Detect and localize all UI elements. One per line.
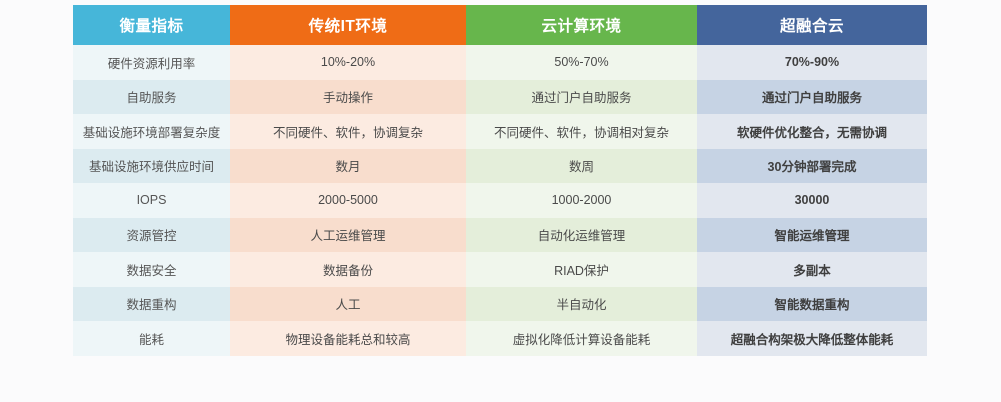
table-cell-metric: 硬件资源利用率 — [73, 45, 230, 80]
column-header-metric: 衡量指标 — [73, 5, 230, 45]
table-cell-metric: 基础设施环境部署复杂度 — [73, 114, 230, 149]
table-cell-cloud: RIAD保护 — [466, 252, 697, 287]
table-cell-cloud: 1000-2000 — [466, 183, 697, 218]
table-cell-legacy: 数据备份 — [230, 252, 466, 287]
header-row: 衡量指标 传统IT环境 云计算环境 超融合云 — [73, 5, 927, 45]
table-cell-cloud: 自动化运维管理 — [466, 218, 697, 253]
table-cell-cloud: 50%-70% — [466, 45, 697, 80]
table-cell-hci: 智能数据重构 — [697, 287, 927, 322]
table-cell-hci: 30分钟部署完成 — [697, 149, 927, 184]
table-cell-legacy: 10%-20% — [230, 45, 466, 80]
column-header-cloud: 云计算环境 — [466, 5, 697, 45]
table-cell-metric: 基础设施环境供应时间 — [73, 149, 230, 184]
table-row: 硬件资源利用率10%-20%50%-70%70%-90% — [73, 45, 927, 80]
table-cell-legacy: 不同硬件、软件，协调复杂 — [230, 114, 466, 149]
comparison-table: 衡量指标 传统IT环境 云计算环境 超融合云 硬件资源利用率10%-20%50%… — [73, 5, 927, 356]
table-cell-metric: 自助服务 — [73, 80, 230, 115]
column-header-legacy: 传统IT环境 — [230, 5, 466, 45]
table-cell-cloud: 半自动化 — [466, 287, 697, 322]
table-cell-metric: 数据重构 — [73, 287, 230, 322]
table-cell-metric: 数据安全 — [73, 252, 230, 287]
table-row: 数据重构人工半自动化智能数据重构 — [73, 287, 927, 322]
table-header: 衡量指标 传统IT环境 云计算环境 超融合云 — [73, 5, 927, 45]
table-row: 自助服务手动操作通过门户自助服务通过门户自助服务 — [73, 80, 927, 115]
table-cell-cloud: 数周 — [466, 149, 697, 184]
table-cell-legacy: 2000-5000 — [230, 183, 466, 218]
table-row: 能耗物理设备能耗总和较高虚拟化降低计算设备能耗超融合构架极大降低整体能耗 — [73, 321, 927, 356]
table-cell-legacy: 物理设备能耗总和较高 — [230, 321, 466, 356]
table-row: 基础设施环境部署复杂度不同硬件、软件，协调复杂不同硬件、软件，协调相对复杂软硬件… — [73, 114, 927, 149]
table-cell-metric: IOPS — [73, 183, 230, 218]
table-cell-hci: 智能运维管理 — [697, 218, 927, 253]
table-cell-metric: 能耗 — [73, 321, 230, 356]
table-cell-legacy: 人工 — [230, 287, 466, 322]
column-header-hci: 超融合云 — [697, 5, 927, 45]
table-cell-metric: 资源管控 — [73, 218, 230, 253]
table-cell-hci: 超融合构架极大降低整体能耗 — [697, 321, 927, 356]
table-row: 资源管控人工运维管理自动化运维管理智能运维管理 — [73, 218, 927, 253]
table-cell-hci: 70%-90% — [697, 45, 927, 80]
table-cell-hci: 通过门户自助服务 — [697, 80, 927, 115]
table-row: IOPS2000-50001000-200030000 — [73, 183, 927, 218]
table-cell-cloud: 不同硬件、软件，协调相对复杂 — [466, 114, 697, 149]
table-cell-legacy: 手动操作 — [230, 80, 466, 115]
table-body: 硬件资源利用率10%-20%50%-70%70%-90%自助服务手动操作通过门户… — [73, 45, 927, 356]
table-row: 数据安全数据备份RIAD保护多副本 — [73, 252, 927, 287]
table-cell-hci: 软硬件优化整合，无需协调 — [697, 114, 927, 149]
table-cell-hci: 30000 — [697, 183, 927, 218]
table-cell-legacy: 数月 — [230, 149, 466, 184]
table-cell-cloud: 通过门户自助服务 — [466, 80, 697, 115]
table-cell-legacy: 人工运维管理 — [230, 218, 466, 253]
table-cell-hci: 多副本 — [697, 252, 927, 287]
table-row: 基础设施环境供应时间数月数周30分钟部署完成 — [73, 149, 927, 184]
table-cell-cloud: 虚拟化降低计算设备能耗 — [466, 321, 697, 356]
